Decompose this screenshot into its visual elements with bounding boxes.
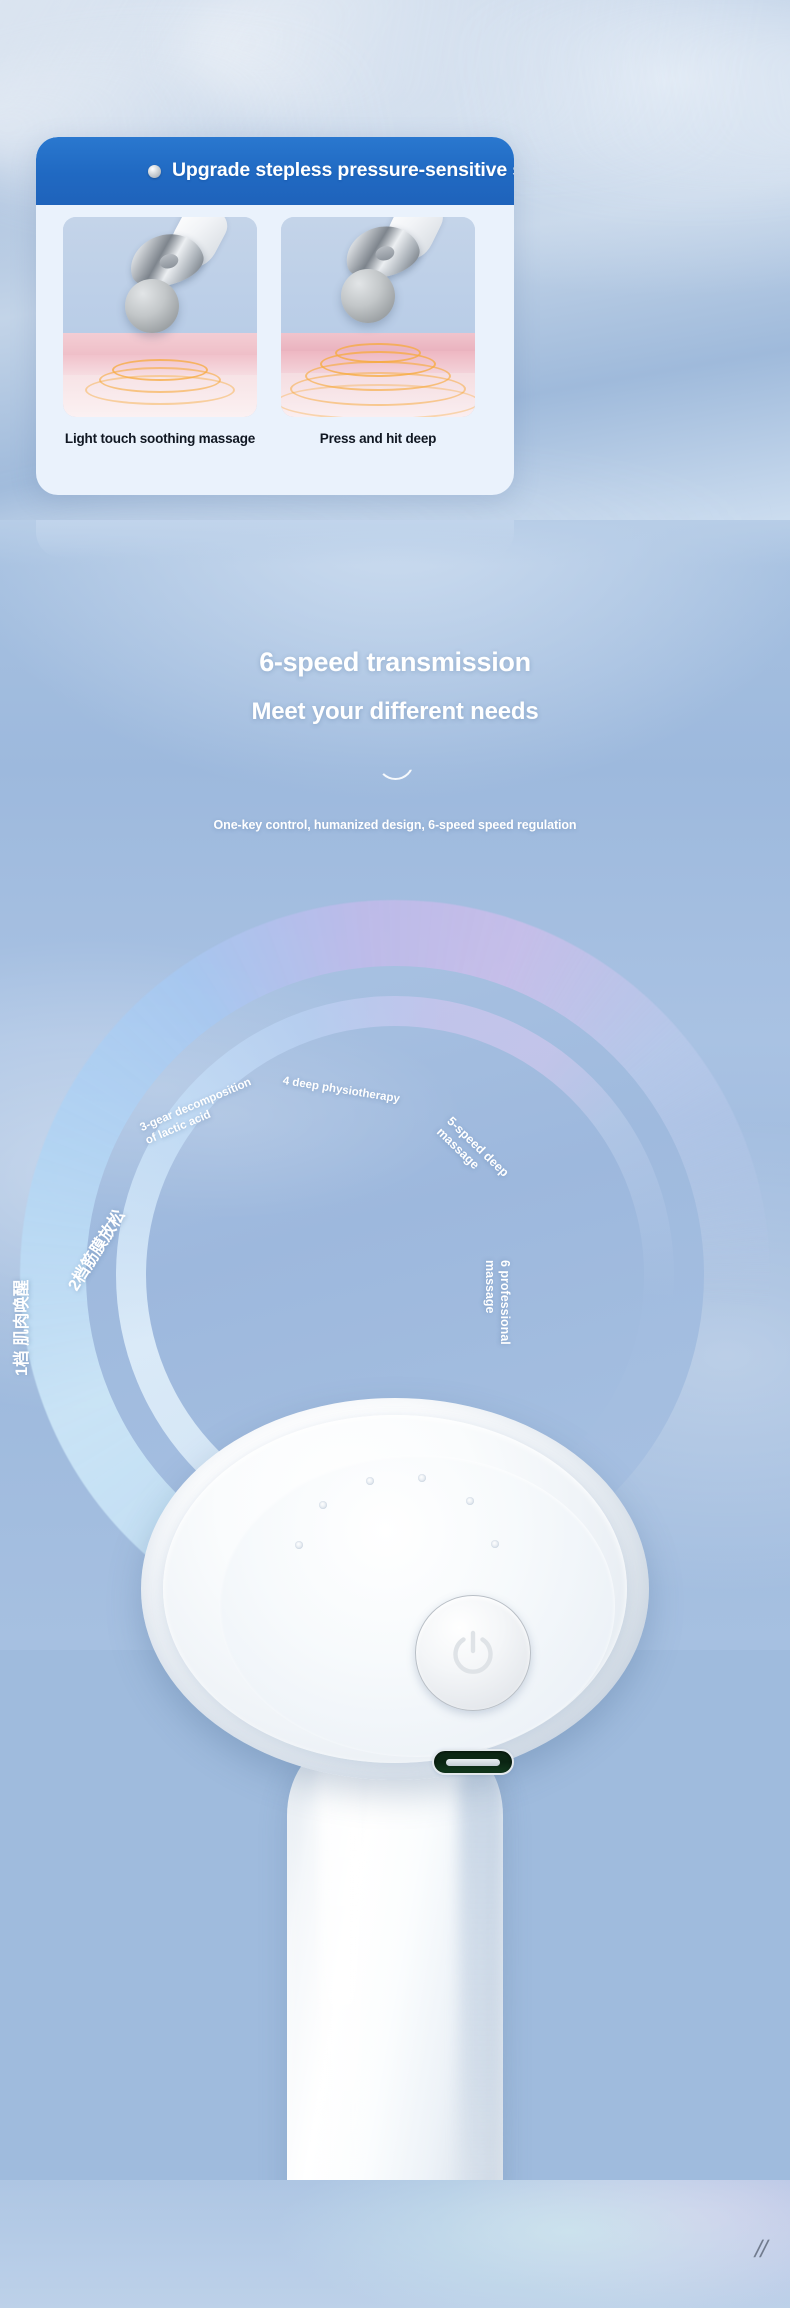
- led-indicator-4: [418, 1474, 426, 1482]
- ripple-icon: [281, 384, 475, 417]
- device-control-face: [219, 1455, 615, 1757]
- led-indicator-1: [295, 1541, 303, 1549]
- usb-pin: [446, 1759, 500, 1766]
- feature-card: Upgrade stepless pressure-sensitive spee…: [36, 137, 514, 495]
- footer-section: //: [0, 2180, 790, 2308]
- dot-icon: [148, 165, 161, 178]
- usb-c-port-icon: [432, 1749, 514, 1775]
- gear-label-1: 1档 肌肉唤醒: [12, 1280, 32, 1376]
- device-rim: [163, 1415, 627, 1763]
- skin-layer: [63, 333, 257, 355]
- headline-primary: 6-speed transmission: [0, 647, 790, 678]
- demo-tile-press-deep: [281, 217, 475, 417]
- subtitle-text: One-key control, humanized design, 6-spe…: [0, 818, 790, 832]
- massage-gun-product-image: [141, 1398, 649, 2308]
- led-indicator-2: [319, 1501, 327, 1509]
- gear-label-6: 6 professional massage: [482, 1260, 513, 1378]
- tile-caption-light-touch: Light touch soothing massage: [63, 431, 257, 446]
- ripple-icon: [85, 375, 235, 405]
- arc-divider-icon: [377, 760, 414, 780]
- headline-secondary: Meet your different needs: [0, 698, 790, 726]
- led-indicator-3: [366, 1477, 374, 1485]
- card-shadow-tab: [36, 520, 514, 558]
- banner-title: Upgrade stepless pressure-sensitive spee…: [172, 160, 514, 182]
- feature-banner: Upgrade stepless pressure-sensitive spee…: [36, 137, 514, 205]
- led-indicator-5: [466, 1497, 474, 1505]
- tile-caption-press-deep: Press and hit deep: [281, 431, 475, 446]
- power-icon: [444, 1624, 502, 1682]
- device-body: [141, 1398, 649, 1780]
- led-indicator-6: [491, 1540, 499, 1548]
- demo-tile-light-touch: [63, 217, 257, 417]
- watermark: //: [754, 2236, 766, 2264]
- power-button[interactable]: [415, 1595, 531, 1711]
